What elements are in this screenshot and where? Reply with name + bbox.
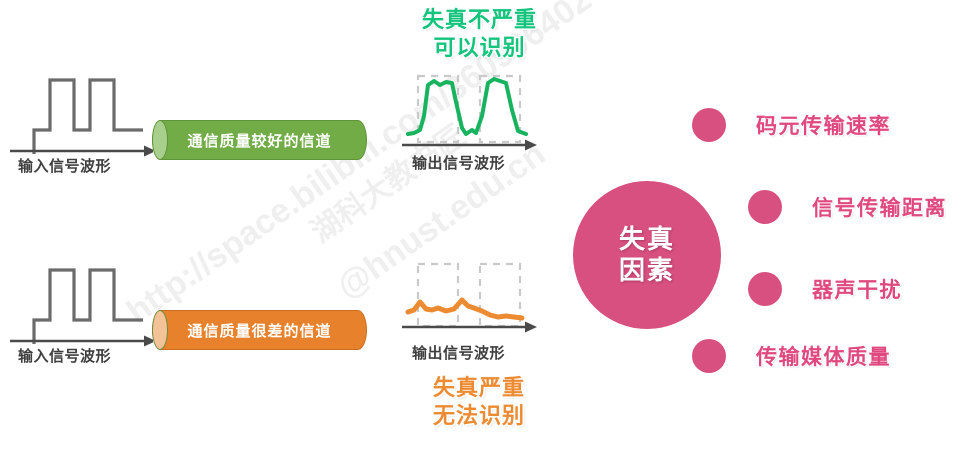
input-waveform-bottom [8,252,153,347]
factor-label-0: 码元传输速率 [756,110,891,140]
output-caption-top: 输出信号波形 [412,152,505,173]
factor-item-1[interactable]: 信号传输距离 [748,190,947,224]
factor-item-3[interactable]: 传输媒体质量 [692,339,891,373]
input-caption-bottom: 输入信号波形 [18,345,111,366]
output-axis-bottom [400,318,540,336]
callout-good-line1: 失真不严重 [392,6,567,34]
input-caption-top: 输入信号波形 [18,155,111,176]
callout-good-line2: 可以识别 [392,34,567,62]
hub-distortion-factors[interactable]: 失真 因素 [573,181,721,329]
channel-bad-label: 通信质量很差的信道 [187,320,331,341]
bullet-dot-icon [748,190,782,224]
factor-item-0[interactable]: 码元传输速率 [692,108,891,142]
channel-bad[interactable]: 通信质量很差的信道 [152,310,367,350]
output-caption-bottom: 输出信号波形 [412,342,505,363]
callout-bad-line2: 无法识别 [405,402,553,430]
factor-item-2[interactable]: 器声干扰 [748,272,902,306]
bullet-dot-icon [692,339,726,373]
bullet-dot-icon [748,272,782,306]
bullet-dot-icon [692,108,726,142]
factor-label-1: 信号传输距离 [812,192,947,222]
callout-good-channel: 失真不严重 可以识别 [392,6,567,62]
hub-line-2: 因素 [619,255,675,286]
callout-bad-line1: 失真严重 [405,374,553,402]
input-waveform-top [8,62,153,157]
cylinder-cap-left-orange [152,310,168,350]
diagram-canvas: http://space.bilibili.com/360996402 @hnu… [0,0,978,454]
hub-line-1: 失真 [619,224,675,255]
factor-label-2: 器声干扰 [812,274,902,304]
channel-good[interactable]: 通信质量较好的信道 [152,120,367,160]
factor-label-3: 传输媒体质量 [756,341,891,371]
cylinder-cap-left-green [152,120,168,160]
callout-bad-channel: 失真严重 无法识别 [405,374,553,430]
channel-good-label: 通信质量较好的信道 [187,130,331,151]
